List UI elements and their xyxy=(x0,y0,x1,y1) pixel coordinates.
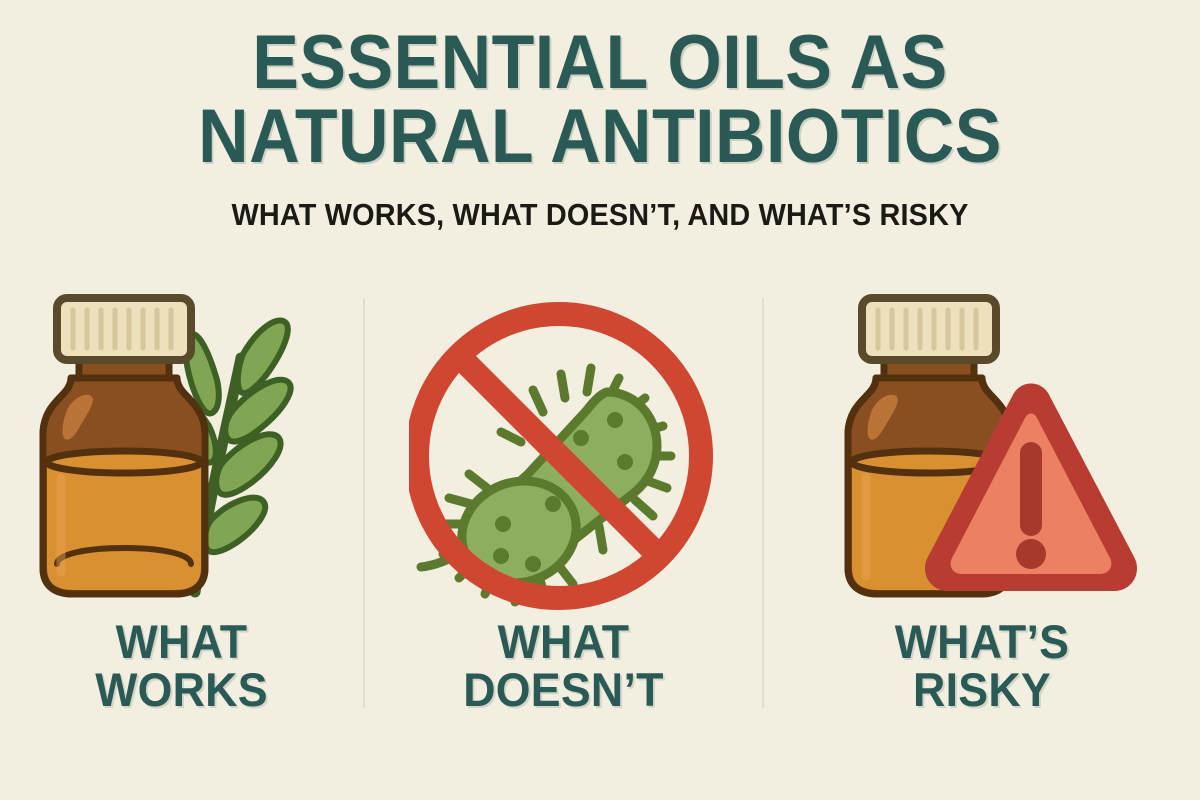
panel-risky-artwork xyxy=(764,292,1200,622)
page-title-line-1: ESSENTIAL OILS AS xyxy=(48,26,1152,100)
bottle-cap-icon xyxy=(57,298,191,360)
panel-risky-label: WHAT’S RISKY xyxy=(775,618,1189,714)
panel-doesnt-label-line-2: DOESN’T xyxy=(375,666,752,714)
panel-works-label-line-2: WORKS xyxy=(9,666,354,714)
panel-what-doesnt: WHAT DOESN’T xyxy=(365,292,762,762)
poster-header: ESSENTIAL OILS AS NATURAL ANTIBIOTICS WH… xyxy=(0,26,1200,233)
page-subtitle: WHAT WORKS, WHAT DOESN’T, AND WHAT’S RIS… xyxy=(42,197,1158,233)
infographic-poster: ESSENTIAL OILS AS NATURAL ANTIBIOTICS WH… xyxy=(0,0,1200,800)
no-bacteria-illustration xyxy=(409,292,719,612)
panel-risky-label-line-1: WHAT’S xyxy=(775,618,1189,666)
panel-row: WHAT WORKS xyxy=(0,292,1200,762)
exclamation-bar-icon xyxy=(1020,442,1042,536)
panel-whats-risky: WHAT’S RISKY xyxy=(764,292,1200,762)
oil-bottle-with-warning-illustration xyxy=(822,292,1142,612)
bottle-cap-icon xyxy=(862,298,996,360)
panel-what-works: WHAT WORKS xyxy=(0,292,363,762)
page-title-line-2: NATURAL ANTIBIOTICS xyxy=(48,100,1152,174)
panel-risky-label-line-2: RISKY xyxy=(775,666,1189,714)
panel-doesnt-label-line-1: WHAT xyxy=(375,618,752,666)
panel-works-label-line-1: WHAT xyxy=(9,618,354,666)
panel-works-artwork xyxy=(0,292,363,622)
amber-oil-bottle-icon xyxy=(43,298,205,594)
oil-bottle-with-rosemary-illustration xyxy=(27,292,337,612)
exclamation-dot-icon xyxy=(1016,539,1046,569)
panel-doesnt-artwork xyxy=(365,292,762,622)
panel-works-label: WHAT WORKS xyxy=(9,618,354,714)
panel-doesnt-label: WHAT DOESN’T xyxy=(375,618,752,714)
